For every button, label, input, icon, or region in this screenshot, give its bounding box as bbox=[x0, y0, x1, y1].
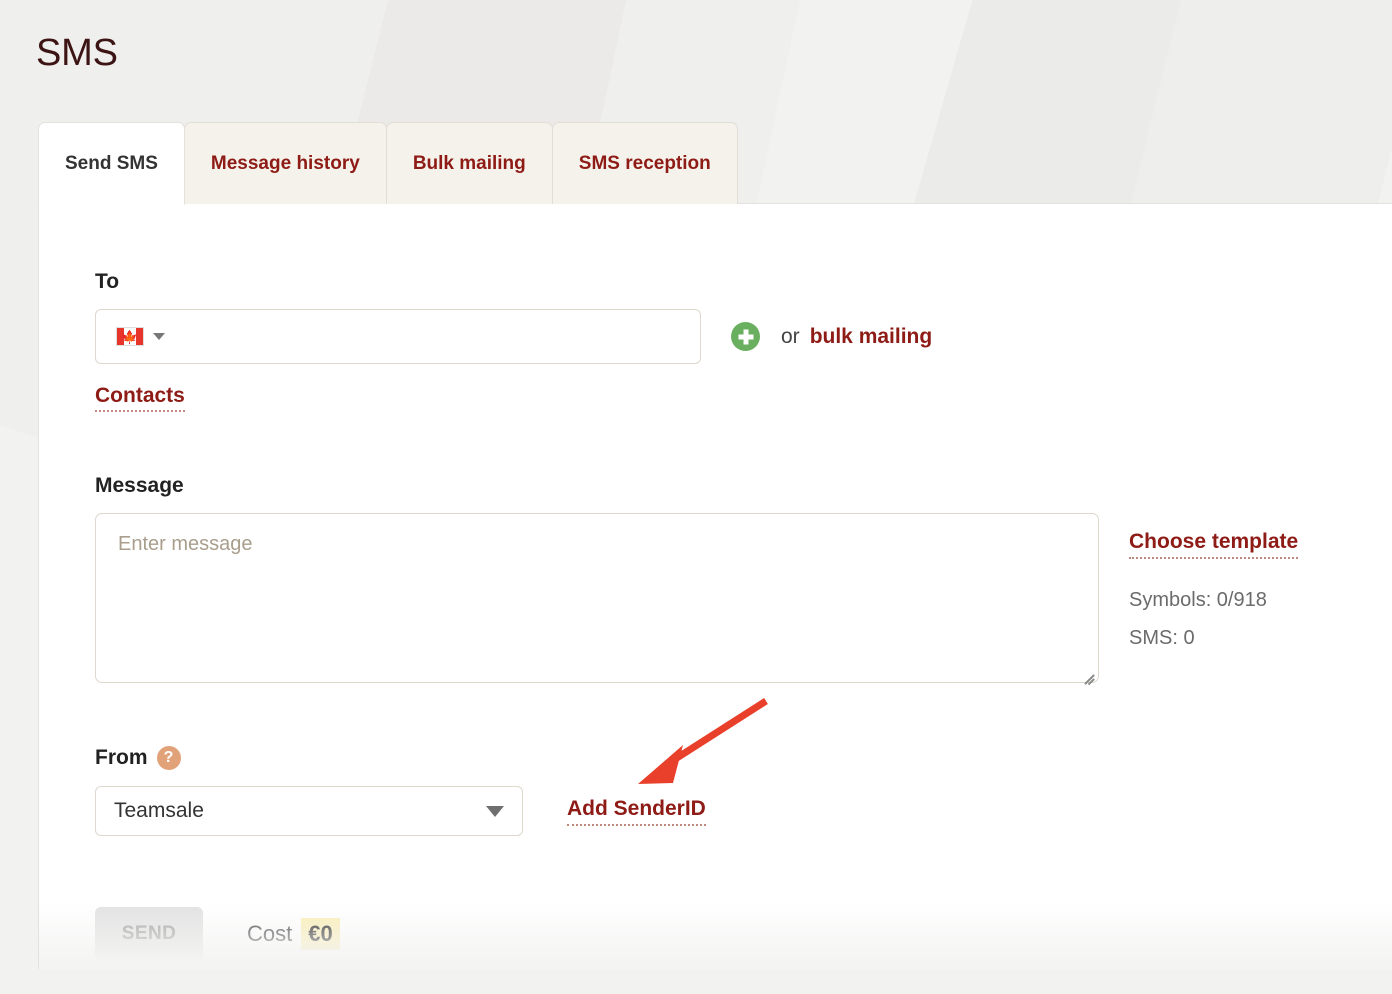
or-label: or bbox=[781, 325, 800, 349]
send-action-row: SEND Cost €0 bbox=[95, 907, 340, 960]
from-label-text: From bbox=[95, 746, 148, 770]
tab-sms-reception[interactable]: SMS reception bbox=[552, 122, 738, 204]
send-sms-panel: To 🍁 or bulk mailing Contacts Message En… bbox=[38, 203, 1392, 969]
recipient-phone-input[interactable]: 🍁 bbox=[95, 309, 701, 364]
to-field-group: To 🍁 or bulk mailing bbox=[95, 270, 932, 364]
sender-id-value: Teamsale bbox=[114, 799, 204, 823]
help-question-icon[interactable]: ? bbox=[157, 746, 181, 770]
resize-handle-icon[interactable] bbox=[1079, 664, 1094, 679]
cost-value-badge: €0 bbox=[301, 918, 339, 950]
symbols-counter: Symbols: 0/918 bbox=[1129, 581, 1298, 619]
canada-flag-icon: 🍁 bbox=[116, 327, 144, 346]
add-recipient-icon[interactable] bbox=[731, 322, 760, 351]
from-label: From ? bbox=[95, 746, 706, 770]
tab-strip: Send SMS Message history Bulk mailing SM… bbox=[38, 122, 737, 204]
to-label: To bbox=[95, 270, 932, 294]
message-textarea[interactable]: Enter message bbox=[95, 513, 1099, 683]
tab-message-history[interactable]: Message history bbox=[184, 122, 387, 204]
tab-send-sms[interactable]: Send SMS bbox=[38, 122, 185, 205]
page-title: SMS bbox=[36, 28, 118, 78]
sender-id-select[interactable]: Teamsale bbox=[95, 786, 523, 836]
tab-bulk-mailing[interactable]: Bulk mailing bbox=[386, 122, 553, 204]
tab-send-sms-label: Send SMS bbox=[65, 153, 158, 175]
add-senderid-link[interactable]: Add SenderID bbox=[567, 797, 706, 826]
message-field-group: Message Enter message bbox=[95, 474, 1099, 683]
tab-sms-reception-label: SMS reception bbox=[579, 153, 711, 175]
maple-leaf-glyph: 🍁 bbox=[122, 330, 138, 343]
from-field-group: From ? Teamsale Add SenderID bbox=[95, 746, 706, 836]
tab-message-history-label: Message history bbox=[211, 153, 360, 175]
sms-counter: SMS: 0 bbox=[1129, 619, 1298, 657]
message-label: Message bbox=[95, 474, 1099, 498]
contacts-link[interactable]: Contacts bbox=[95, 384, 185, 412]
tab-bulk-mailing-label: Bulk mailing bbox=[413, 153, 526, 175]
choose-template-link[interactable]: Choose template bbox=[1129, 530, 1298, 559]
bulk-mailing-link[interactable]: bulk mailing bbox=[810, 325, 933, 349]
cost-label: Cost bbox=[247, 921, 292, 947]
country-select[interactable]: 🍁 bbox=[116, 327, 165, 346]
chevron-down-icon bbox=[153, 333, 165, 340]
message-side-info: Choose template Symbols: 0/918 SMS: 0 bbox=[1129, 530, 1298, 657]
cost-display: Cost €0 bbox=[247, 918, 340, 950]
send-button[interactable]: SEND bbox=[95, 907, 203, 960]
message-placeholder: Enter message bbox=[118, 533, 253, 555]
chevron-down-icon bbox=[486, 806, 504, 817]
